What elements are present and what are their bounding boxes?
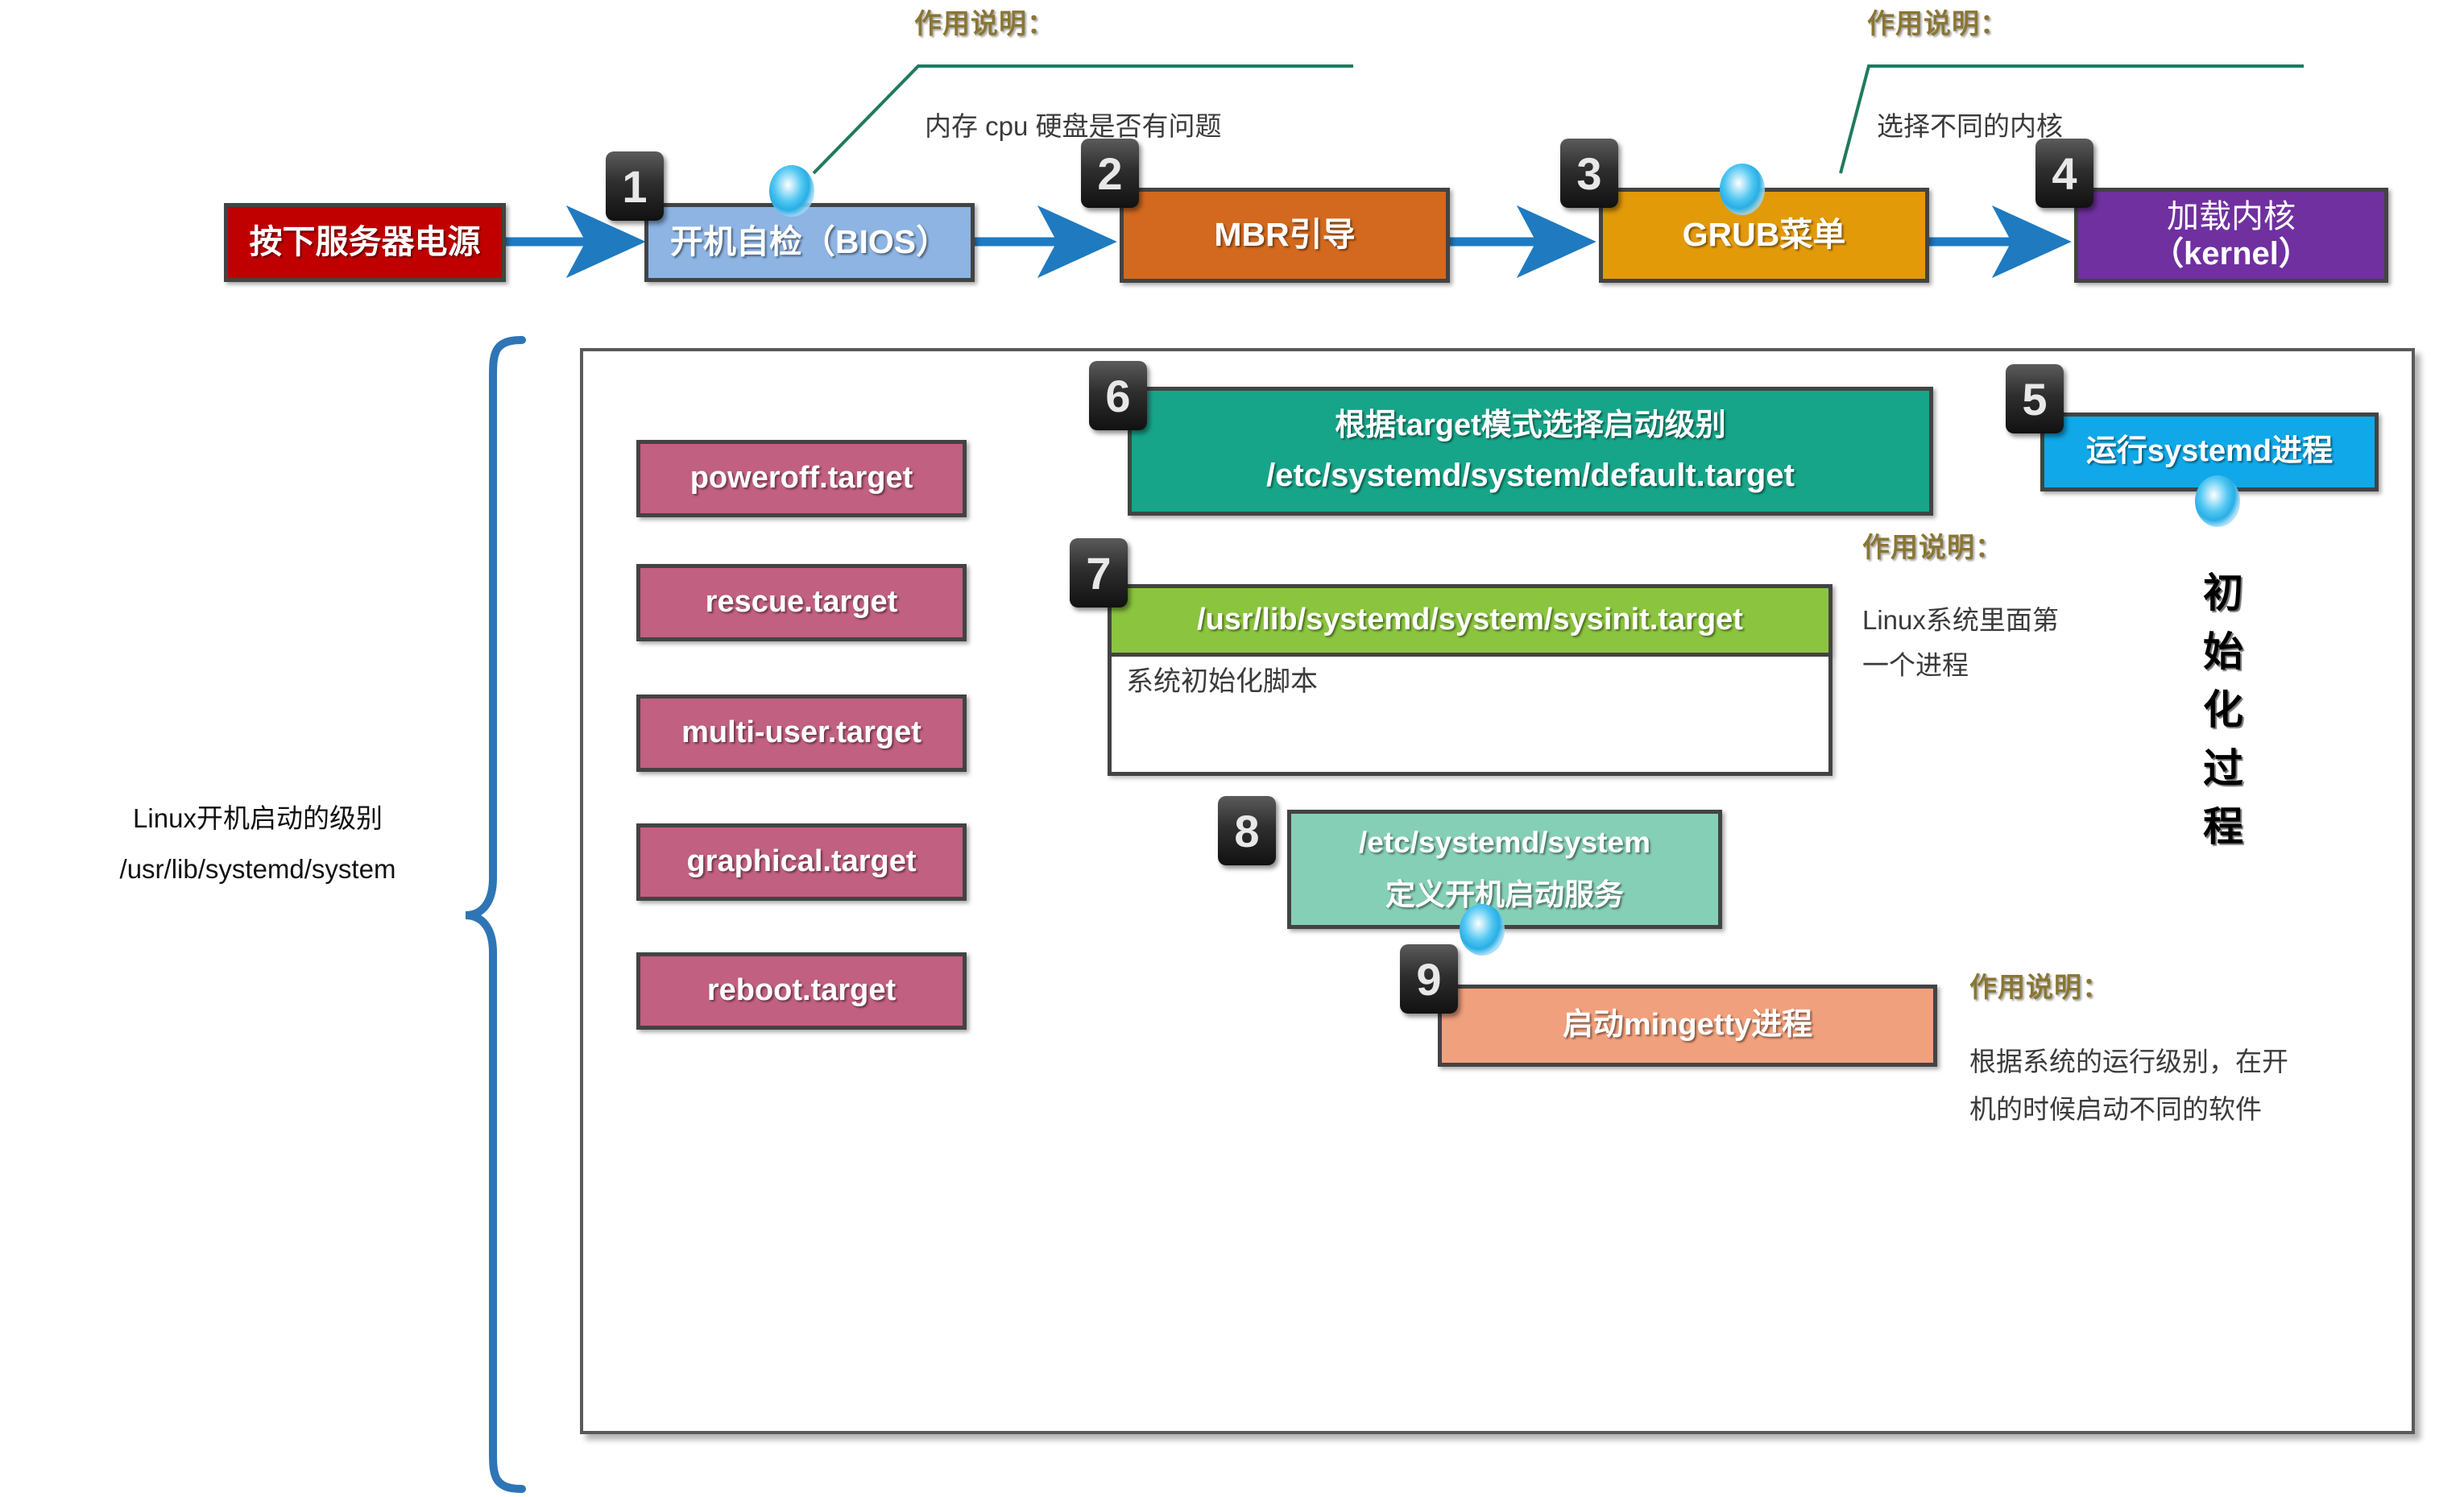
badge-step-4: 4 bbox=[2035, 139, 2093, 208]
target-label: multi-user.target bbox=[681, 715, 921, 751]
target-label: rescue.target bbox=[706, 585, 898, 620]
node-target-reboot[interactable]: reboot.target bbox=[636, 952, 967, 1030]
side-label-runlevels: Linux开机启动的级别 /usr/lib/systemd/system bbox=[48, 794, 467, 894]
service-hotspot-icon bbox=[1460, 904, 1505, 956]
node-default-target-line2: /etc/systemd/system/default.target bbox=[1266, 457, 1795, 494]
grub-hotspot-icon bbox=[1720, 164, 1765, 215]
diagram-canvas: 按下服务器电源 开机自检（BIOS） 1 MBR引导 2 GRUB菜单 3 加载… bbox=[0, 0, 2464, 1497]
bios-hotspot-icon bbox=[769, 165, 814, 217]
badge-step-8: 8 bbox=[1218, 796, 1276, 865]
badge-step-7: 7 bbox=[1070, 538, 1128, 608]
callout-systemd-title: 作用说明： bbox=[1862, 525, 2003, 565]
node-bios-label: 开机自检（BIOS） bbox=[670, 223, 949, 261]
node-power-label: 按下服务器电源 bbox=[250, 223, 481, 261]
node-sysinit-script-body: 系统初始化脚本 bbox=[1126, 666, 1318, 698]
badge-step-6: 6 bbox=[1089, 361, 1147, 430]
badge-step-3: 3 bbox=[1560, 139, 1618, 208]
node-sysinit-script: 系统初始化脚本 bbox=[1108, 657, 1832, 776]
node-kernel-line2: （kernel） bbox=[2151, 235, 2311, 272]
node-kernel-line1: 加载内核 bbox=[2167, 198, 2296, 235]
callout-service-body: 根据系统的运行级别，在开 机的时候启动不同的软件 bbox=[1969, 1038, 2437, 1134]
badge-step-9: 9 bbox=[1400, 944, 1458, 1014]
node-target-poweroff[interactable]: poweroff.target bbox=[636, 440, 967, 517]
node-power-button[interactable]: 按下服务器电源 bbox=[224, 203, 506, 282]
callout-bios-body: 内存 cpu 硬盘是否有问题 bbox=[925, 103, 1489, 150]
node-service-line2: 定义开机启动服务 bbox=[1385, 878, 1624, 913]
badge-step-1: 1 bbox=[606, 151, 664, 221]
node-target-graphical[interactable]: graphical.target bbox=[636, 823, 967, 901]
node-kernel[interactable]: 加载内核 （kernel） bbox=[2074, 188, 2388, 283]
node-grub-label: GRUB菜单 bbox=[1683, 216, 1846, 254]
node-service-dir[interactable]: /etc/systemd/system 定义开机启动服务 bbox=[1287, 810, 1722, 929]
node-mbr-label: MBR引导 bbox=[1214, 216, 1355, 254]
callout-grub-title: 作用说明： bbox=[1867, 2, 2008, 41]
node-mingetty-label: 启动mingetty进程 bbox=[1563, 1008, 1812, 1043]
callout-grub-body: 选择不同的内核 bbox=[1877, 103, 2360, 150]
badge-step-5: 5 bbox=[2006, 364, 2064, 433]
node-default-target[interactable]: 根据target模式选择启动级别 /etc/systemd/system/def… bbox=[1128, 387, 1933, 516]
node-systemd-label: 运行systemd进程 bbox=[2086, 434, 2333, 470]
callout-service-title: 作用说明： bbox=[1969, 965, 2110, 1005]
node-sysinit-target[interactable]: /usr/lib/systemd/system/sysinit.target bbox=[1108, 584, 1832, 657]
node-bios[interactable]: 开机自检（BIOS） bbox=[644, 203, 975, 282]
target-label: poweroff.target bbox=[690, 461, 913, 496]
node-mbr[interactable]: MBR引导 bbox=[1120, 188, 1450, 283]
callout-systemd-body: Linux系统里面第 一个进程 bbox=[1862, 598, 2184, 688]
node-mingetty[interactable]: 启动mingetty进程 bbox=[1438, 985, 1937, 1067]
node-target-multi-user[interactable]: multi-user.target bbox=[636, 695, 967, 772]
badge-step-2: 2 bbox=[1081, 139, 1139, 208]
node-sysinit-label: /usr/lib/systemd/system/sysinit.target bbox=[1197, 603, 1743, 638]
target-label: reboot.target bbox=[707, 973, 896, 1009]
node-grub[interactable]: GRUB菜单 bbox=[1599, 188, 1929, 283]
vertical-label-init-process: 初 始 化 过 程 bbox=[2187, 564, 2259, 856]
left-curly-brace bbox=[466, 340, 522, 1489]
node-service-line1: /etc/systemd/system bbox=[1359, 826, 1650, 860]
node-default-target-line1: 根据target模式选择启动级别 bbox=[1335, 408, 1726, 444]
node-target-rescue[interactable]: rescue.target bbox=[636, 564, 967, 641]
target-label: graphical.target bbox=[686, 844, 916, 880]
systemd-hotspot-icon bbox=[2195, 475, 2240, 527]
callout-bios-title: 作用说明： bbox=[914, 2, 1055, 41]
